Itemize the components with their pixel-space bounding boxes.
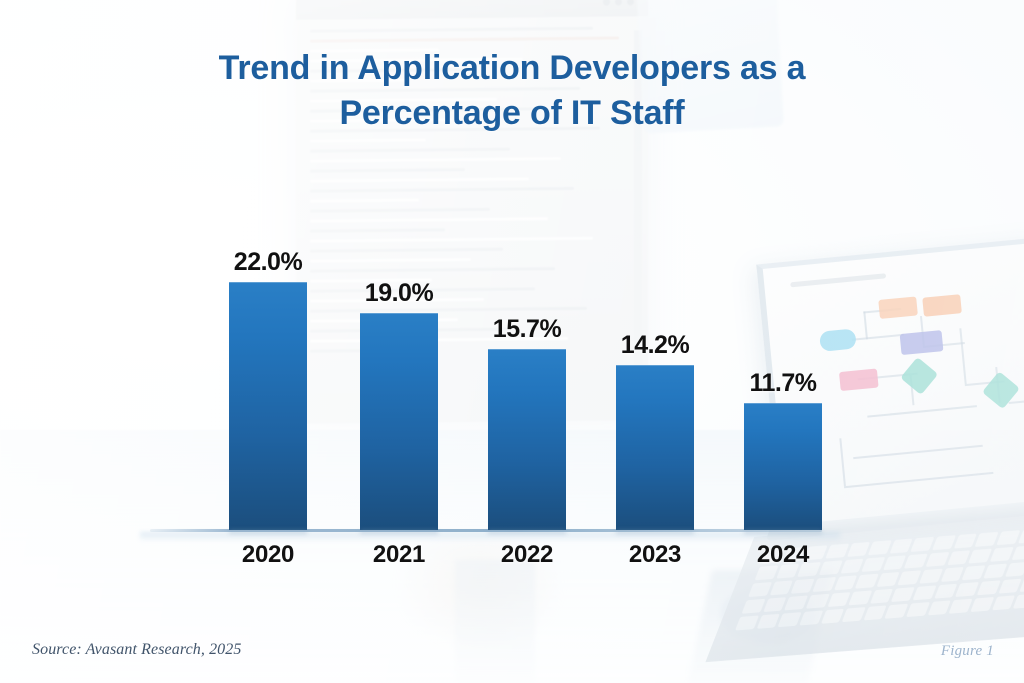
bar-value-label-2021: 19.0% [349,279,449,308]
category-label-2022: 2022 [477,541,577,569]
plot-area: 22.0% 2020 19.0% 2021 15.7% 2022 14.2% 2… [0,0,1024,683]
bar-value-label-2020: 22.0% [218,248,318,277]
bar-value-label-2022: 15.7% [477,315,577,344]
bar-2022[interactable] [488,349,566,530]
bar-value-label-2023: 14.2% [605,331,705,360]
category-label-2023: 2023 [605,541,705,569]
bar-value-label-2024: 11.7% [733,369,833,398]
category-label-2024: 2024 [733,541,833,569]
bar-2023[interactable] [616,365,694,530]
bar-2020[interactable] [229,282,307,530]
source-note: Source: Avasant Research, 2025 [32,641,241,659]
bar-2024[interactable] [744,403,822,530]
figure-number: Figure 1 [941,643,994,660]
bar-2021[interactable] [360,313,438,530]
category-label-2021: 2021 [349,541,449,569]
category-label-2020: 2020 [218,541,318,569]
chart-slide: Trend in Application Developers as a Per… [0,0,1024,683]
